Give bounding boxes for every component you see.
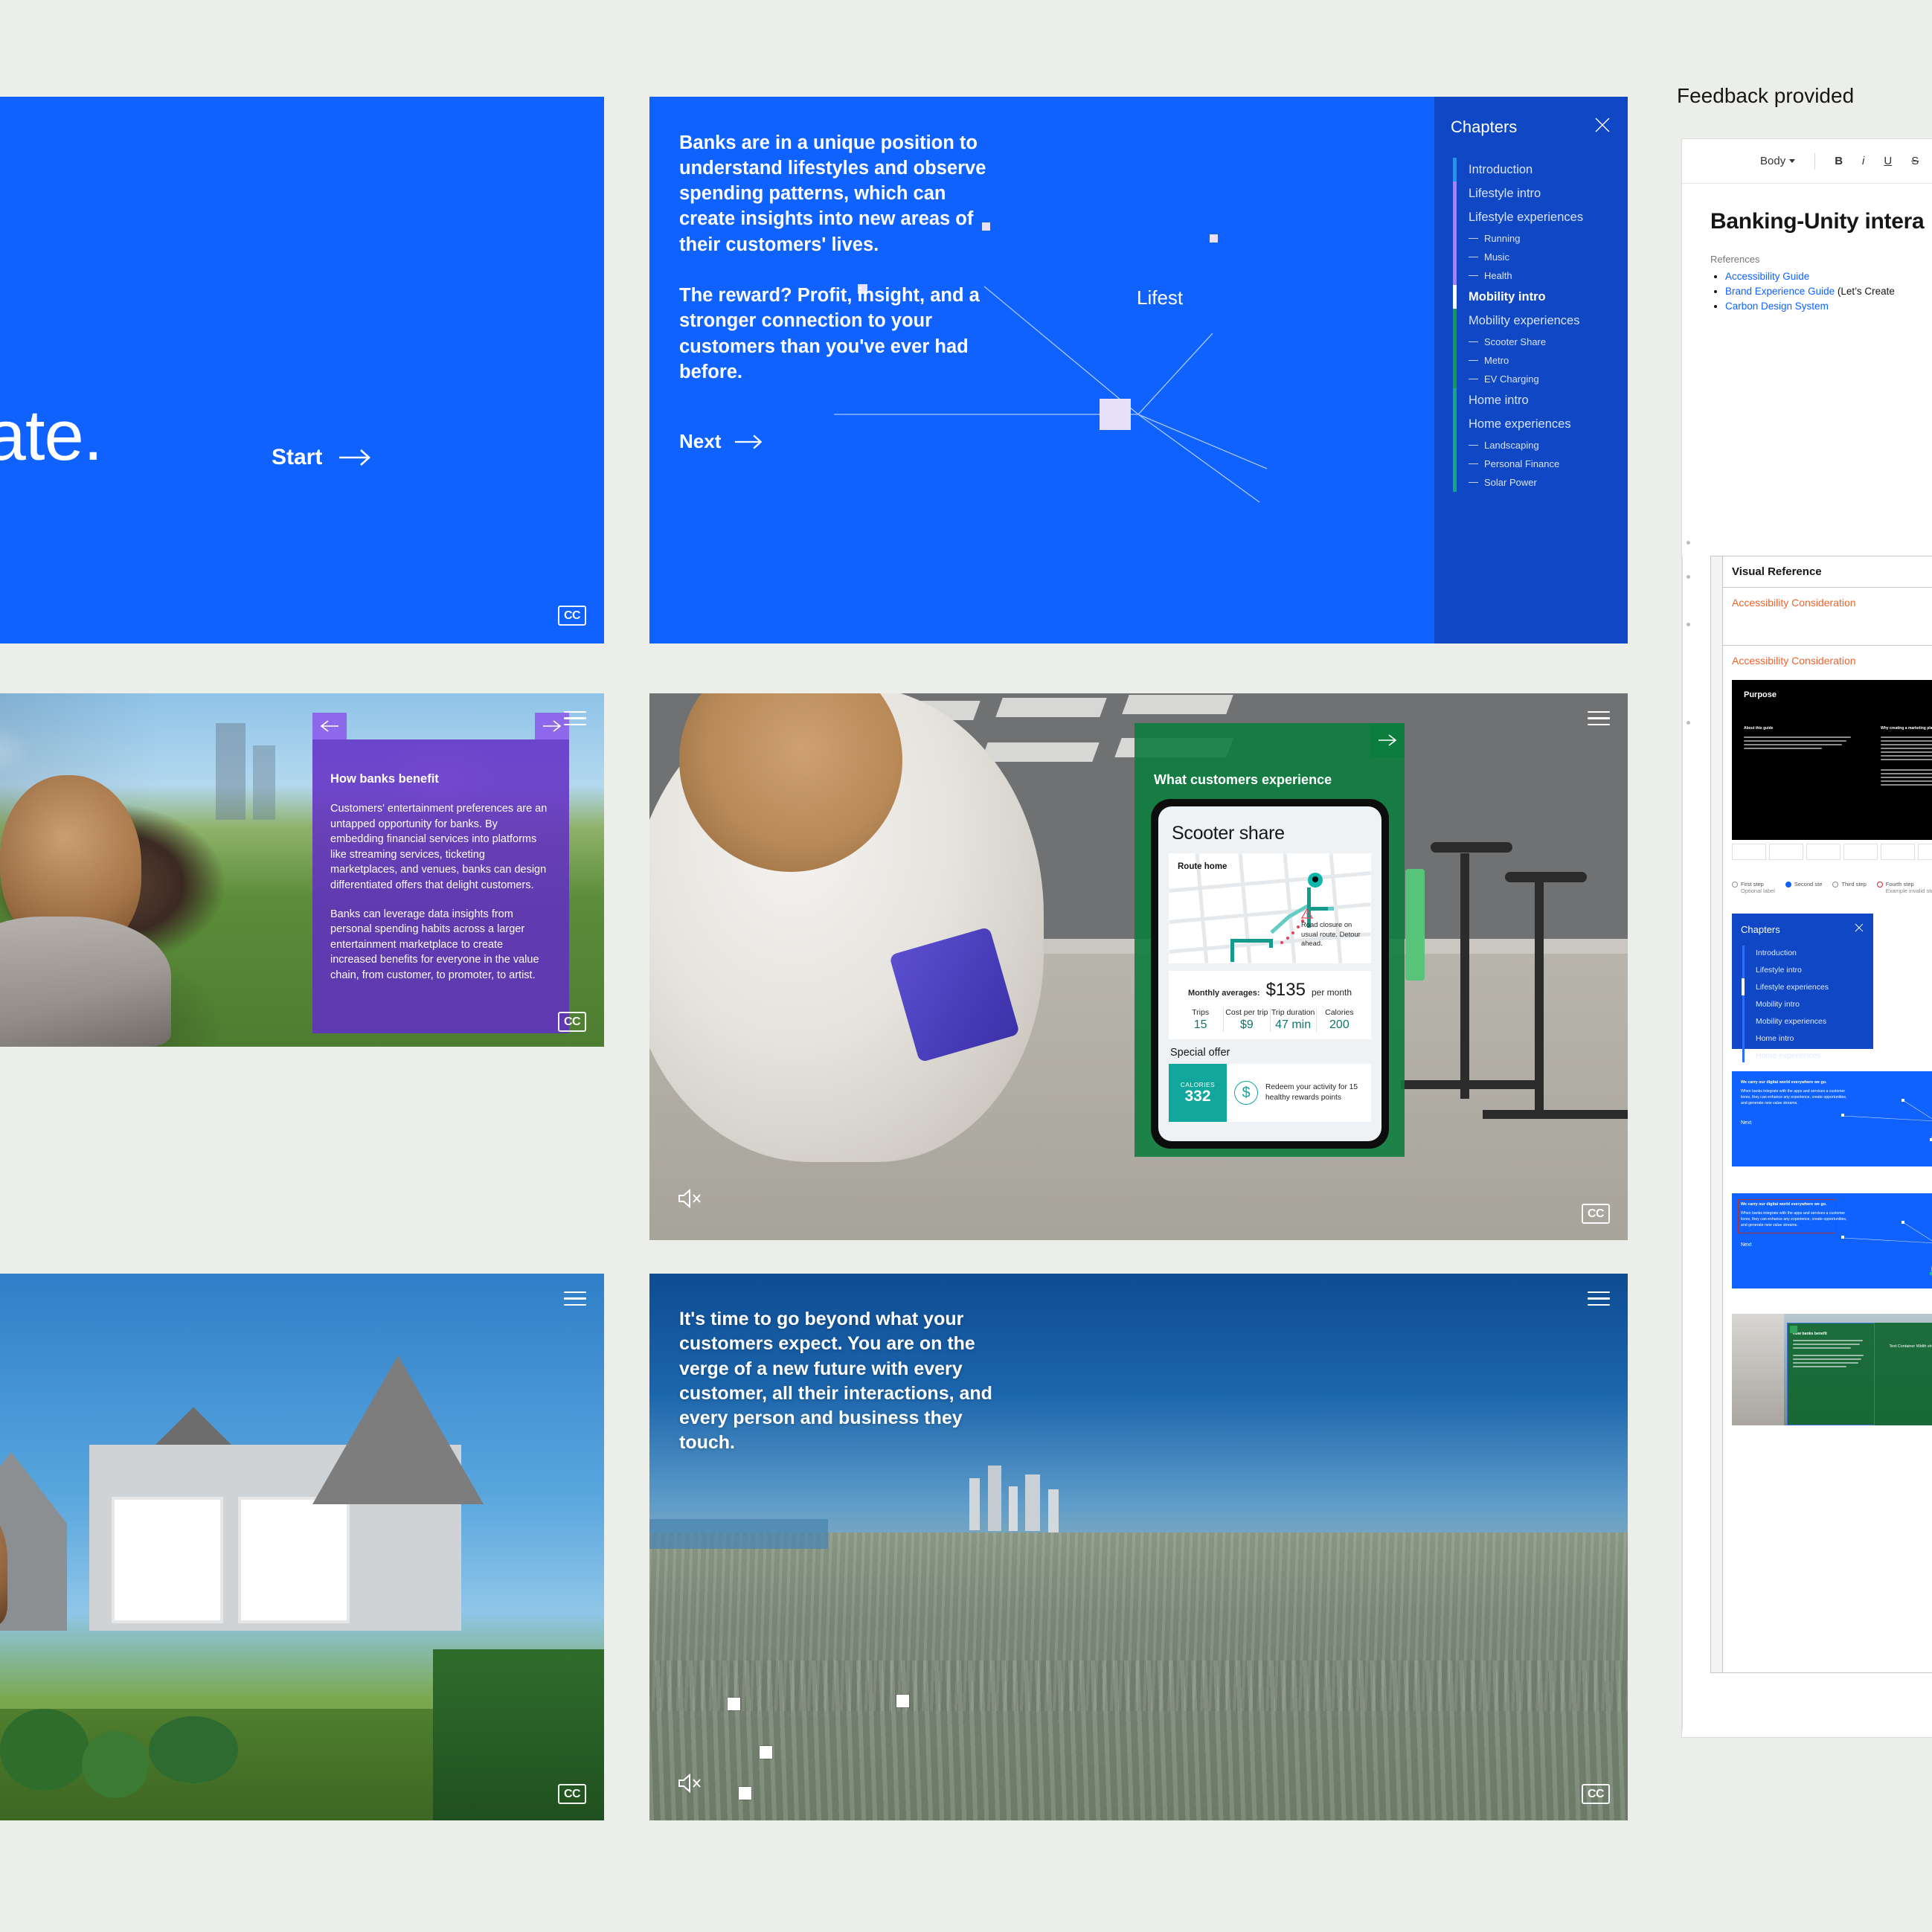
underline-button[interactable]: U	[1884, 155, 1892, 167]
chapter-item-label: Running	[1484, 233, 1520, 244]
chapters-list[interactable]: IntroductionLifestyle introLifestyle exp…	[1451, 158, 1611, 492]
panel-body: Customers' entertainment preferences are…	[330, 801, 551, 983]
network-node-lifestyle[interactable]	[1100, 399, 1131, 430]
chapter-item-home-experiences[interactable]: Home experiences	[1469, 412, 1611, 436]
stat-cell: Cost per trip$9	[1223, 1008, 1269, 1032]
map-label: Route home	[1178, 862, 1227, 871]
rail-segment	[1453, 309, 1457, 333]
mini-chapter-item[interactable]: Home intro	[1756, 1030, 1864, 1047]
chapter-item-ev-charging[interactable]: EV Charging	[1469, 370, 1611, 388]
table-header-row: Visual Reference	[1711, 556, 1932, 588]
chapter-item-health[interactable]: Health	[1469, 266, 1611, 285]
start-button-label: Start	[272, 445, 322, 470]
close-icon[interactable]	[1854, 922, 1864, 933]
averages-value: $135	[1266, 980, 1306, 1001]
dash-icon	[1469, 445, 1478, 446]
dash-icon	[1469, 257, 1478, 257]
next-button[interactable]	[1370, 723, 1405, 757]
chapter-item-mobility-intro[interactable]: Mobility intro	[1469, 285, 1611, 309]
city-copy: It's time to go beyond what your custome…	[679, 1307, 1007, 1456]
closed-caption-badge[interactable]: CC	[558, 606, 586, 626]
map-pin-icon	[1308, 873, 1323, 888]
rail-segment	[1453, 436, 1457, 455]
stat-value: 15	[1178, 1018, 1223, 1032]
mini-chapter-item[interactable]: Home experiences	[1756, 1047, 1864, 1064]
hamburger-menu-icon[interactable]	[564, 1291, 586, 1306]
page-title: Feedback provided	[1677, 84, 1854, 108]
arrow-right-icon	[338, 448, 373, 467]
stat-value: $9	[1224, 1018, 1269, 1032]
hero-slide-card[interactable]: ate at’s tegrate. Start CC	[0, 97, 604, 644]
running-slide-card[interactable]: How banks benefit Customers' entertainme…	[0, 693, 604, 1047]
chapter-item-label: Scooter Share	[1484, 336, 1546, 347]
network-node-small-3	[1210, 234, 1218, 243]
stat-key: Cost per trip	[1224, 1008, 1269, 1017]
panel-paragraph-1: Customers' entertainment preferences are…	[330, 801, 551, 893]
route-map[interactable]: Route home	[1169, 853, 1371, 963]
thumbnail-network-graphic: Lifestyle	[1732, 1193, 1932, 1288]
rail-segment	[1453, 333, 1457, 351]
thumbnail-purpose-slide[interactable]: Purpose About this guide Why creating a …	[1732, 680, 1932, 840]
next-button-label: Next	[679, 430, 721, 453]
warning-triangle-icon	[1301, 908, 1313, 919]
stepper-label: Second ste	[1794, 881, 1823, 888]
stat-cell: Calories200	[1316, 1008, 1362, 1032]
scooter-slide-card[interactable]: What customers experience Scooter share …	[649, 693, 1628, 1240]
sound-toggle-button[interactable]	[676, 1187, 703, 1213]
closed-caption-badge[interactable]: CC	[1582, 1204, 1610, 1224]
insight-paragraph-2: The reward? Profit, insight, and a stron…	[679, 283, 999, 385]
calories-badge: CALORIES 332	[1169, 1064, 1227, 1122]
closed-caption-badge[interactable]: CC	[558, 1784, 586, 1804]
insight-paragraph-1: Banks are in a unique position to unders…	[679, 130, 999, 257]
stats-row: Trips15Cost per trip$9Trip duration47 mi…	[1178, 1008, 1362, 1032]
network-node-label: Lifest	[1137, 286, 1183, 309]
sound-toggle-button[interactable]	[676, 1772, 703, 1798]
mini-chapters-title: Chapters	[1741, 924, 1864, 935]
stat-cell: Trip duration47 min	[1270, 1008, 1316, 1032]
bold-button[interactable]: B	[1835, 155, 1843, 167]
city-slide-card[interactable]: It's time to go beyond what your custome…	[649, 1274, 1628, 1820]
stepper-label: Third step	[1841, 881, 1866, 888]
hotspot-3[interactable]	[896, 1695, 909, 1707]
phone-mockup: Scooter share Route home	[1151, 799, 1389, 1149]
stepper-item[interactable]: Fourth stepExample invalid step	[1877, 881, 1932, 894]
rail-segment	[1453, 388, 1457, 412]
mini-chapters-list[interactable]: IntroductionLifestyle introLifestyle exp…	[1741, 944, 1864, 1064]
paragraph-style-label: Body	[1760, 155, 1785, 167]
arrow-left-icon	[320, 720, 339, 732]
chapters-panel[interactable]: Chapters IntroductionLifestyle introLife…	[1434, 97, 1628, 644]
visual-reference-table[interactable]: Visual Reference Accessibility Considera…	[1710, 556, 1932, 1673]
thumbnail-network-slide-2[interactable]: We carry our digital world everywhere we…	[1732, 1193, 1932, 1288]
table-gutter	[1711, 556, 1723, 1672]
rail-segment	[1453, 158, 1457, 182]
feedback-document-panel: Feedback provided Body B i U S 12 Ba	[1668, 0, 1932, 1932]
panel-paragraph-2: Banks can leverage data insights from pe…	[330, 907, 551, 983]
speaker-muted-icon	[676, 1772, 703, 1794]
chapter-item-home-intro[interactable]: Home intro	[1469, 388, 1611, 412]
stepper-text: Third step	[1841, 881, 1866, 888]
house-photo	[0, 1274, 604, 1820]
averages-label: Monthly averages:	[1188, 989, 1260, 998]
reference-list-item[interactable]: Accessibility Guide	[1725, 271, 1932, 282]
toolbar-divider	[1814, 153, 1815, 170]
chapter-item-label: Landscaping	[1484, 440, 1539, 451]
how-banks-benefit-panel: How banks benefit Customers' entertainme…	[312, 739, 569, 1033]
house-slide-card[interactable]: CC	[0, 1274, 604, 1820]
dash-icon	[1469, 482, 1478, 483]
next-button[interactable]: Next	[679, 430, 764, 453]
stat-key: Calories	[1317, 1008, 1362, 1017]
table-row: Accessibility Consideration	[1711, 588, 1932, 646]
mini-chapter-item[interactable]: Lifestyle experiences	[1756, 978, 1864, 995]
closure-text: Road closure on usual route. Detour ahea…	[1301, 920, 1365, 949]
hero-headline-line-1: ate	[0, 227, 604, 310]
dash-icon	[1469, 360, 1478, 361]
hotspot-1[interactable]	[728, 1698, 740, 1710]
thumbnail-network-graphic: Lifestyle	[1732, 1071, 1932, 1166]
chapter-item-label: Personal Finance	[1484, 458, 1559, 469]
chapter-item-mobility-experiences[interactable]: Mobility experiences	[1469, 309, 1611, 333]
rail-segment	[1453, 182, 1457, 205]
dash-icon	[1469, 275, 1478, 276]
rail-segment	[1453, 412, 1457, 436]
editor-toolbar[interactable]: Body B i U S 12	[1682, 139, 1932, 184]
stepper-item[interactable]: Second ste	[1785, 881, 1823, 888]
chapter-item-label: Health	[1484, 270, 1512, 281]
references-label: References	[1710, 254, 1932, 265]
rail-segment	[1453, 473, 1457, 492]
reference-link[interactable]: Accessibility Guide	[1725, 271, 1809, 282]
dash-icon	[1469, 341, 1478, 342]
stat-cell: Trips15	[1178, 1008, 1223, 1032]
thumbnail-filmstrip[interactable]	[1732, 844, 1932, 860]
hamburger-menu-icon[interactable]	[564, 711, 586, 725]
reference-link[interactable]: Brand Experience Guide	[1725, 286, 1835, 297]
accessibility-consideration-label: Accessibility Consideration	[1732, 655, 1932, 667]
reference-list-item[interactable]: Brand Experience Guide (Let’s Create	[1725, 286, 1932, 297]
special-offer-card[interactable]: CALORIES 332 $ Redeem your activity for …	[1169, 1064, 1371, 1122]
strikethrough-button[interactable]: S	[1911, 155, 1919, 167]
start-button[interactable]: Start	[272, 445, 373, 470]
offer-text: Redeem your activity for 15 healthy rewa…	[1265, 1082, 1364, 1103]
previous-button[interactable]	[312, 713, 347, 739]
stepper-sublabel: Example invalid step	[1886, 888, 1932, 894]
close-icon[interactable]	[1594, 116, 1611, 134]
stepper-item[interactable]: First stepOptional label	[1732, 881, 1775, 894]
mini-chapter-item[interactable]: Introduction	[1756, 944, 1864, 961]
thumbnail-left-head: About this guide	[1744, 726, 1848, 731]
reference-suffix: (Let’s Create	[1835, 286, 1895, 297]
thumbnail-right-note: Text Container Width should remain consi…	[1888, 1344, 1932, 1355]
dash-icon	[1469, 238, 1478, 239]
stepper-text: Fourth stepExample invalid step	[1886, 881, 1932, 894]
hamburger-menu-icon[interactable]	[1588, 711, 1610, 725]
monthly-averages-card: Monthly averages: $135 per month Trips15…	[1169, 971, 1371, 1039]
rail-segment	[1453, 285, 1457, 309]
arrow-right-icon	[542, 720, 562, 732]
overlay-title: What customers experience	[1154, 772, 1332, 788]
stat-value: 47 min	[1271, 1018, 1316, 1032]
rail-segment	[1453, 229, 1457, 248]
mini-active-marker	[1742, 978, 1745, 995]
chapter-item-landscaping[interactable]: Landscaping	[1469, 436, 1611, 455]
chapter-item-label: Solar Power	[1484, 477, 1537, 488]
stepper-label: First step	[1741, 881, 1775, 888]
step-indicator-icon	[1785, 882, 1791, 888]
chapter-item-lifestyle-experiences[interactable]: Lifestyle experiences	[1469, 205, 1611, 229]
chapter-item-label: EV Charging	[1484, 373, 1539, 385]
chapter-item-running[interactable]: Running	[1469, 229, 1611, 248]
customer-experience-overlay: What customers experience Scooter share …	[1135, 723, 1405, 1157]
insight-slide-card[interactable]: Lifest Banks are in a unique position to…	[649, 97, 1628, 644]
rail-segment	[1453, 266, 1457, 285]
mini-chapter-item[interactable]: Lifestyle intro	[1756, 961, 1864, 978]
averages-unit: per month	[1312, 987, 1352, 998]
phone-title: Scooter share	[1172, 823, 1371, 844]
step-indicator-icon	[1732, 882, 1738, 888]
thumbnail-left-title: How banks benefit	[1793, 1332, 1867, 1336]
special-offer-title: Special offer	[1170, 1047, 1371, 1059]
rail-segment	[1453, 370, 1457, 388]
insight-copy: Banks are in a unique position to unders…	[679, 130, 999, 385]
rail-segment	[1453, 248, 1457, 266]
thumbnail-progress-stepper[interactable]: First stepOptional labelSecond steThird …	[1732, 881, 1932, 894]
hotspot-2[interactable]	[760, 1746, 772, 1759]
chapters-title: Chapters	[1451, 118, 1611, 137]
thumbnail-network-slide-1[interactable]: We carry our digital world everywhere we…	[1732, 1071, 1932, 1166]
hotspot-4[interactable]	[739, 1787, 751, 1800]
calories-value: 332	[1184, 1088, 1210, 1105]
stepper-text: First stepOptional label	[1741, 881, 1775, 894]
table-row: Accessibility Consideration Purpose Abou…	[1711, 646, 1932, 1672]
thumbnail-ev-charging-slide[interactable]: How banks benefit Text Container Width s…	[1732, 1314, 1932, 1425]
closed-caption-badge[interactable]: CC	[558, 1012, 586, 1032]
reference-link[interactable]: Carbon Design System	[1725, 301, 1829, 312]
document-body: Banking-Unity intera References Accessib…	[1682, 184, 1932, 312]
accessibility-consideration-label: Accessibility Consideration	[1732, 597, 1932, 609]
stepper-item[interactable]: Third step	[1832, 881, 1866, 888]
screenshot-root: ate at’s tegrate. Start CC	[0, 0, 1932, 1932]
closed-caption-badge[interactable]: CC	[1582, 1784, 1610, 1804]
stat-key: Trips	[1178, 1008, 1223, 1017]
italic-button[interactable]: i	[1862, 155, 1864, 167]
stepper-sublabel: Optional label	[1741, 888, 1775, 894]
hamburger-menu-icon[interactable]	[1588, 1291, 1610, 1306]
stat-value: 200	[1317, 1018, 1362, 1032]
chapter-item-solar-power[interactable]: Solar Power	[1469, 473, 1611, 492]
step-indicator-icon	[1877, 882, 1883, 888]
stepper-label: Fourth step	[1886, 881, 1932, 888]
hero-headline-line-2: at’s	[0, 310, 604, 394]
mini-progress-rail	[1742, 946, 1745, 1062]
chapters-progress-rail	[1453, 158, 1457, 492]
reference-list-item[interactable]: Carbon Design System	[1725, 301, 1932, 312]
arrow-right-icon	[1378, 734, 1397, 746]
chapter-item-label: Music	[1484, 251, 1509, 263]
panel-title: How banks benefit	[330, 772, 551, 786]
paragraph-style-dropdown[interactable]: Body	[1760, 155, 1795, 167]
document-editor-window[interactable]: Body B i U S 12 Banking-Unity intera Ref…	[1681, 138, 1932, 1738]
thumbnail-right-head: Why creating a marketing plan is importa…	[1881, 726, 1932, 731]
table-header-label: Visual Reference	[1732, 565, 1932, 578]
chapter-item-metro[interactable]: Metro	[1469, 351, 1611, 370]
rail-segment	[1453, 205, 1457, 229]
document-heading: Banking-Unity intera	[1710, 209, 1932, 234]
step-indicator-icon	[1832, 882, 1838, 888]
chevron-down-icon	[1789, 159, 1795, 163]
hero-headline: ate at’s tegrate.	[0, 227, 604, 478]
thumbnail-title: Purpose	[1744, 690, 1777, 699]
chapter-item-label: Metro	[1484, 355, 1509, 366]
chapter-item-personal-finance[interactable]: Personal Finance	[1469, 455, 1611, 473]
mini-chapter-item[interactable]: Mobility experiences	[1756, 1012, 1864, 1030]
rail-segment	[1453, 455, 1457, 473]
dash-icon	[1469, 463, 1478, 464]
dash-icon	[1469, 379, 1478, 379]
speaker-muted-icon	[676, 1187, 703, 1210]
stat-key: Trip duration	[1271, 1008, 1316, 1017]
chapter-item-lifestyle-intro[interactable]: Lifestyle intro	[1469, 182, 1611, 205]
thumbnail-chapters-panel[interactable]: Chapters IntroductionLifestyle introLife…	[1732, 914, 1873, 1049]
references-list[interactable]: Accessibility GuideBrand Experience Guid…	[1725, 271, 1932, 312]
arrow-right-icon	[734, 433, 764, 451]
stepper-text: Second ste	[1794, 881, 1823, 888]
rail-segment	[1453, 351, 1457, 370]
chapter-item-music[interactable]: Music	[1469, 248, 1611, 266]
mini-chapter-item[interactable]: Mobility intro	[1756, 995, 1864, 1012]
chapter-item-introduction[interactable]: Introduction	[1469, 158, 1611, 182]
dollar-circle-icon: $	[1234, 1081, 1258, 1105]
chapter-item-scooter-share[interactable]: Scooter Share	[1469, 333, 1611, 351]
